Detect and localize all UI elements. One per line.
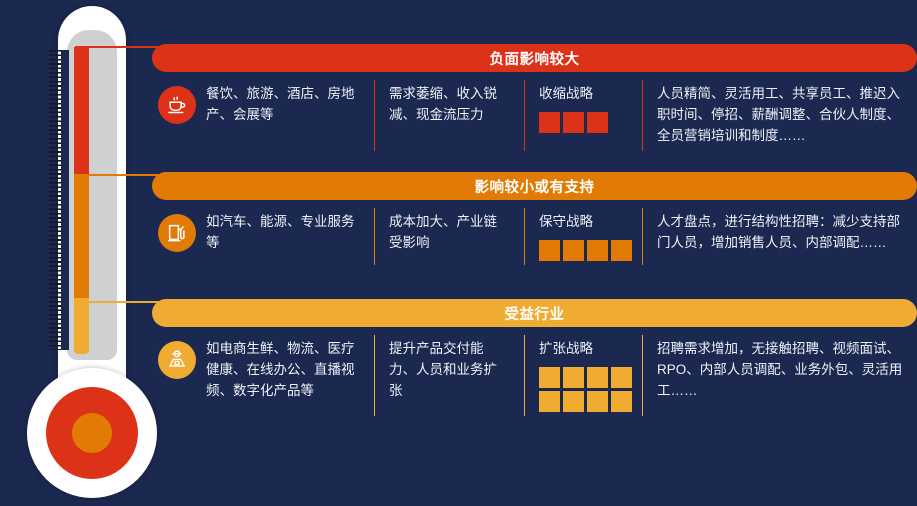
cell-industry: 餐饮、旅游、酒店、房地产、会展等 [152, 80, 374, 151]
strategy-square [611, 367, 632, 388]
thermometer-scale-ticks [49, 50, 69, 350]
row-title-bar: 负面影响较大 [152, 44, 917, 72]
strategy-square [539, 112, 560, 133]
cell-impact: 成本加大、产业链受影响 [374, 208, 524, 265]
thermometer-segment-high [74, 47, 89, 174]
row-body: 餐饮、旅游、酒店、房地产、会展等 需求萎缩、收入锐减、现金流压力 收缩战略 人员… [152, 72, 917, 151]
thermometer-segment-benefit [74, 298, 89, 354]
impact-row-negative: 负面影响较大 餐饮、旅游、酒店、房地产、会展等 需求萎缩、收入锐减、现金流压力 … [152, 44, 917, 151]
industry-text: 餐饮、旅游、酒店、房地产、会展等 [206, 84, 360, 126]
strategy-label: 保守战略 [539, 212, 628, 233]
strategy-square [539, 367, 560, 388]
cell-impact: 需求萎缩、收入锐减、现金流压力 [374, 80, 524, 151]
row-title: 影响较小或有支持 [475, 176, 595, 197]
thermometer-segment-medium [74, 174, 89, 298]
cell-industry: 如汽车、能源、专业服务等 [152, 208, 374, 265]
strategy-square [587, 367, 608, 388]
thermometer-bulb-core [72, 413, 112, 453]
row-body: 如汽车、能源、专业服务等 成本加大、产业链受影响 保守战略 人才盘点，进行结构性… [152, 200, 917, 265]
thermometer-graphic [24, 6, 160, 500]
strategy-square [587, 240, 608, 261]
strategy-level-squares [539, 112, 608, 133]
industry-text: 如汽车、能源、专业服务等 [206, 212, 360, 254]
strategy-square [539, 391, 560, 412]
strategy-square [611, 391, 632, 412]
strategy-label: 收缩战略 [539, 84, 628, 105]
strategy-square [539, 240, 560, 261]
row-title-bar: 影响较小或有支持 [152, 172, 917, 200]
strategy-label: 扩张战略 [539, 339, 628, 360]
cell-actions: 招聘需求增加，无接触招聘、视频面试、RPO、内部人员调配、业务外包、灵活用工…… [642, 335, 917, 416]
row-title: 受益行业 [505, 303, 565, 324]
row-title: 负面影响较大 [490, 48, 580, 69]
coffee-cup-icon [158, 86, 196, 124]
cell-strategy: 收缩战略 [524, 80, 642, 151]
cell-strategy: 保守战略 [524, 208, 642, 265]
strategy-level-squares [539, 240, 632, 261]
row-title-bar: 受益行业 [152, 299, 917, 327]
delivery-person-icon [158, 341, 196, 379]
impact-row-benefit: 受益行业 如电商生鲜、物流、医疗健康、在线办公、直播视频、数字化产品等 提升产品… [152, 299, 917, 416]
cell-impact: 提升产品交付能力、人员和业务扩张 [374, 335, 524, 416]
cell-actions: 人员精简、灵活用工、共享员工、推迟入职时间、停招、薪酬调整、合伙人制度、全员营销… [642, 80, 917, 151]
strategy-square [563, 240, 584, 261]
strategy-square [587, 112, 608, 133]
strategy-square [611, 240, 632, 261]
cell-industry: 如电商生鲜、物流、医疗健康、在线办公、直播视频、数字化产品等 [152, 335, 374, 416]
fuel-pump-icon [158, 214, 196, 252]
strategy-square [587, 391, 608, 412]
strategy-square [563, 391, 584, 412]
row-body: 如电商生鲜、物流、医疗健康、在线办公、直播视频、数字化产品等 提升产品交付能力、… [152, 327, 917, 416]
cell-actions: 人才盘点，进行结构性招聘：减少支持部门人员，增加销售人员、内部调配…… [642, 208, 917, 265]
cell-strategy: 扩张战略 [524, 335, 642, 416]
strategy-square [563, 112, 584, 133]
industry-text: 如电商生鲜、物流、医疗健康、在线办公、直播视频、数字化产品等 [206, 339, 360, 402]
impact-row-mild: 影响较小或有支持 如汽车、能源、专业服务等 成本加大、产业链受影响 保守战略 人… [152, 172, 917, 265]
strategy-square [563, 367, 584, 388]
strategy-level-squares [539, 367, 632, 412]
